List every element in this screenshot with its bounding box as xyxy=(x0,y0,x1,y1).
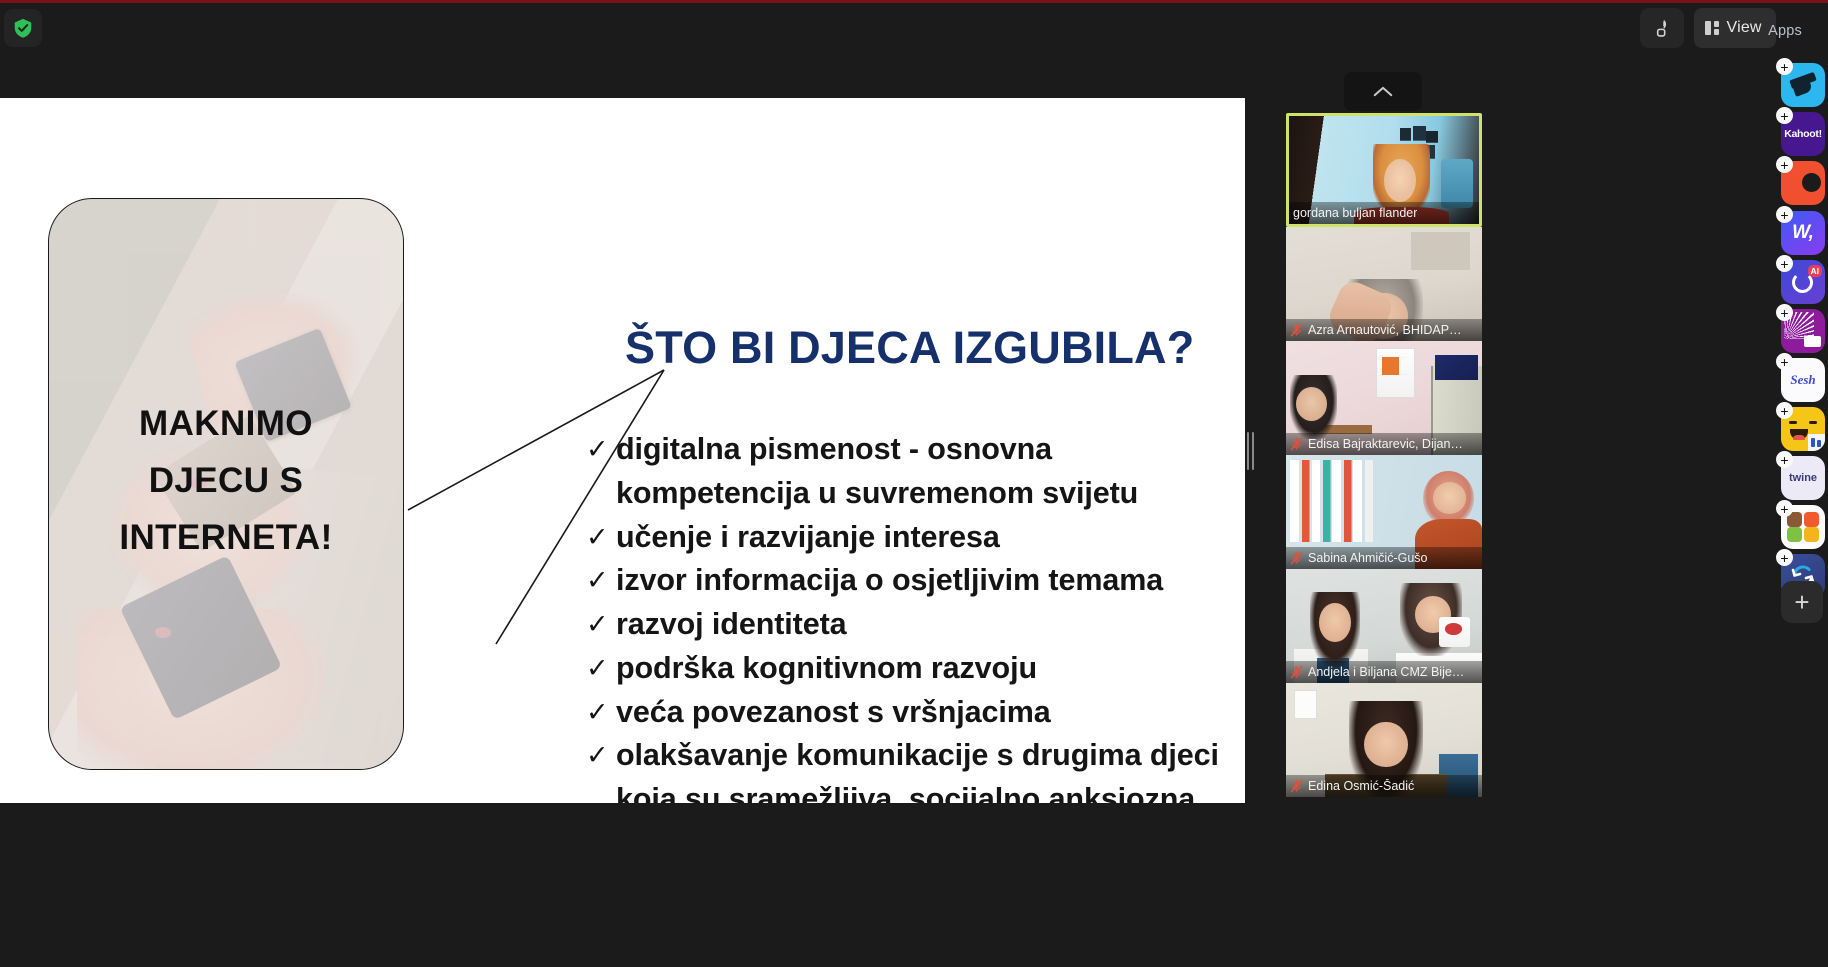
participant-tile[interactable]: Azra Arnautović, BHIDAP… xyxy=(1286,227,1482,341)
participant-namebar: gordana buljan flander xyxy=(1289,202,1479,224)
list-item-label: izvor informacija o osjetljivim temama xyxy=(616,563,1163,597)
participant-name: Sabina Ahmičić-Gušo xyxy=(1308,551,1428,565)
add-app-badge-icon[interactable]: + xyxy=(1776,500,1793,517)
checkmark-icon: ✓ xyxy=(586,736,609,775)
callout-line-2: DJECU S xyxy=(49,452,403,509)
checkmark-icon: ✓ xyxy=(586,561,609,600)
layout-grid-icon xyxy=(1705,21,1719,35)
list-item: ✓ podrška kognitivnom razvoju xyxy=(586,647,1226,691)
participant-filmstrip[interactable]: gordana buljan flander Azra Arnautović, … xyxy=(1286,72,1482,967)
checkmark-icon: ✓ xyxy=(586,518,609,557)
participant-namebar: Edina Osmić-Šadić xyxy=(1286,775,1482,797)
view-layout-button[interactable]: View xyxy=(1694,8,1776,48)
list-item-label: učenje i razvijanje interesa xyxy=(616,520,1000,554)
shared-screen-slide[interactable]: MAKNIMO DJECU S INTERNETA! ŠTO BI DJECA … xyxy=(0,98,1245,803)
view-button-label: View xyxy=(1727,19,1762,37)
apps-rail: + + Kahoot! + + W, + AI + xyxy=(1775,0,1828,967)
rail-app-squares[interactable]: + xyxy=(1776,500,1826,550)
list-item-label: veća povezanost s vršnjacima xyxy=(616,695,1051,729)
checkmark-icon: ✓ xyxy=(586,430,609,469)
slide-title: ŠTO BI DJECA IZGUBILA? xyxy=(625,322,1194,374)
rail-app-twine[interactable]: + twine xyxy=(1776,451,1826,501)
add-app-badge-icon[interactable]: + xyxy=(1776,206,1793,223)
participant-tile[interactable]: Andjela i Biljana CMZ Bije… xyxy=(1286,569,1482,683)
rail-app-orange[interactable]: + xyxy=(1776,156,1826,206)
callout-body: MAKNIMO DJECU S INTERNETA! xyxy=(48,198,404,770)
callout-text: MAKNIMO DJECU S INTERNETA! xyxy=(49,395,403,566)
add-app-badge-icon[interactable]: + xyxy=(1776,402,1793,419)
add-app-badge-icon[interactable]: + xyxy=(1776,107,1793,124)
add-app-badge-icon[interactable]: + xyxy=(1776,549,1793,566)
add-app-badge-icon[interactable]: + xyxy=(1776,451,1793,468)
checkmark-icon: ✓ xyxy=(586,605,609,644)
add-app-badge-icon[interactable]: + xyxy=(1776,58,1793,75)
participant-name: gordana buljan flander xyxy=(1293,206,1417,220)
list-item-label: olakšavanje komunikacije s drugima djeci… xyxy=(616,738,1219,803)
rail-app-flow[interactable]: + xyxy=(1776,58,1826,108)
add-app-badge-icon[interactable]: + xyxy=(1776,353,1793,370)
cast-audio-icon[interactable] xyxy=(1640,8,1684,48)
list-item: ✓ učenje i razvijanje interesa xyxy=(586,516,1226,560)
rail-app-emoji[interactable]: + xyxy=(1776,402,1826,452)
list-item: ✓ veća povezanost s vršnjacima xyxy=(586,691,1226,735)
list-item-label: razvoj identiteta xyxy=(616,607,847,641)
top-bar: View Apps xyxy=(0,3,1828,56)
list-item: ✓ izvor informacija o osjetljivim temama xyxy=(586,559,1226,603)
callout-line-3: INTERNETA! xyxy=(49,509,403,566)
participant-name: Edisa Bajraktarevic, Dijan… xyxy=(1308,437,1463,451)
speech-bubble-callout: MAKNIMO DJECU S INTERNETA! xyxy=(48,198,404,770)
participant-name: Azra Arnautović, BHIDAP… xyxy=(1308,323,1462,337)
checkmark-icon: ✓ xyxy=(586,693,609,732)
rail-app-ai[interactable]: + AI xyxy=(1776,255,1826,305)
rail-app-wooclap[interactable]: + W, xyxy=(1776,206,1826,256)
mic-muted-icon xyxy=(1290,779,1303,793)
rail-app-video[interactable]: + xyxy=(1776,304,1826,354)
mic-muted-icon xyxy=(1290,437,1303,451)
ai-badge-label: AI xyxy=(1808,265,1823,277)
panel-resize-handle[interactable] xyxy=(1246,430,1254,472)
callout-line-1: MAKNIMO xyxy=(49,395,403,452)
participant-namebar: Sabina Ahmičić-Gušo xyxy=(1286,547,1482,569)
mic-muted-icon xyxy=(1290,665,1303,679)
add-app-badge-icon[interactable]: + xyxy=(1776,156,1793,173)
list-item-label: digitalna pismenost - osnovna kompetenci… xyxy=(616,432,1138,510)
participant-name: Edina Osmić-Šadić xyxy=(1308,779,1414,793)
add-app-button[interactable]: + xyxy=(1781,581,1823,623)
list-item: ✓ digitalna pismenost - osnovna kompeten… xyxy=(586,428,1226,516)
mic-muted-icon xyxy=(1290,323,1303,337)
participant-tile[interactable]: Edisa Bajraktarevic, Dijan… xyxy=(1286,341,1482,455)
participant-namebar: Edisa Bajraktarevic, Dijan… xyxy=(1286,433,1482,455)
participant-name: Andjela i Biljana CMZ Bije… xyxy=(1308,665,1464,679)
rail-app-sesh[interactable]: + Sesh xyxy=(1776,353,1826,403)
participant-tile[interactable]: Edina Osmić-Šadić xyxy=(1286,683,1482,797)
add-app-badge-icon[interactable]: + xyxy=(1776,304,1793,321)
participant-tile[interactable]: Sabina Ahmičić-Gušo xyxy=(1286,455,1482,569)
slide-bullet-list: ✓ digitalna pismenost - osnovna kompeten… xyxy=(586,428,1226,803)
rail-app-kahoot[interactable]: + Kahoot! xyxy=(1776,107,1826,157)
checkmark-icon: ✓ xyxy=(586,649,609,688)
meeting-window: View Apps xyxy=(0,0,1828,967)
participant-namebar: Azra Arnautović, BHIDAP… xyxy=(1286,319,1482,341)
list-item-label: podrška kognitivnom razvoju xyxy=(616,651,1037,685)
participant-tile[interactable]: gordana buljan flander xyxy=(1286,113,1482,227)
participant-namebar: Andjela i Biljana CMZ Bije… xyxy=(1286,661,1482,683)
mic-muted-icon xyxy=(1290,551,1303,565)
list-item: ✓ razvoj identiteta xyxy=(586,603,1226,647)
shield-check-icon[interactable] xyxy=(4,9,42,47)
list-item: ✓ olakšavanje komunikacije s drugima dje… xyxy=(586,734,1226,803)
add-app-badge-icon[interactable]: + xyxy=(1776,255,1793,272)
